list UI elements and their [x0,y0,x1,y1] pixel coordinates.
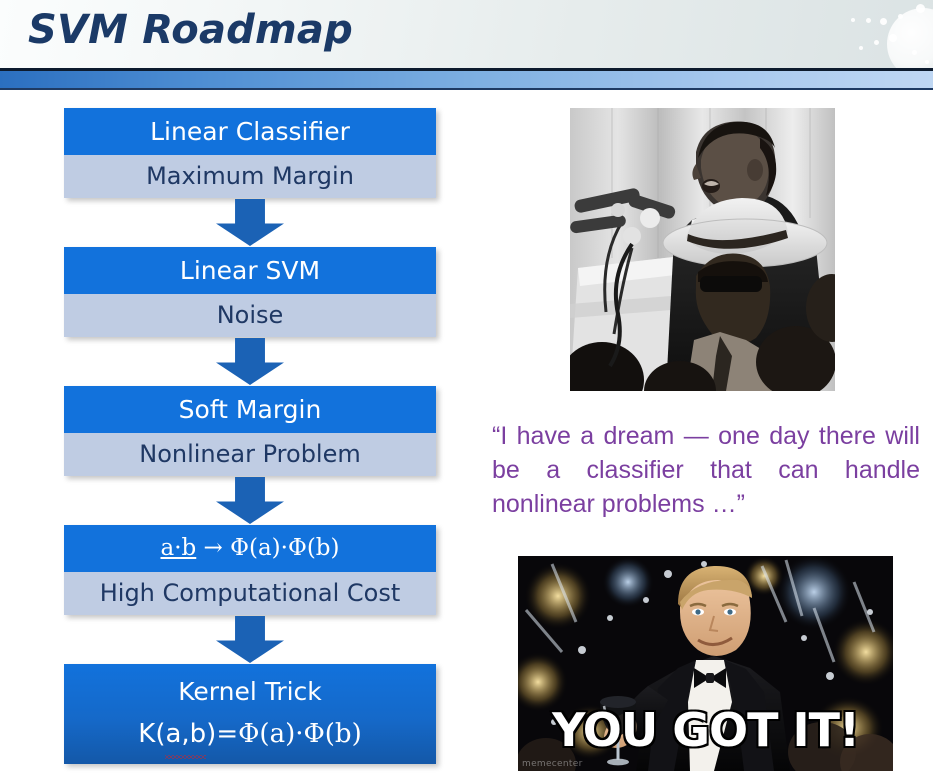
flow-step-subtitle: Noise [64,294,436,337]
dream-quote: “I have a dream — one day there will be … [492,419,920,521]
formula-prefix: K( [138,719,165,749]
flow-step-subtitle: Maximum Margin [64,155,436,198]
down-arrow-icon [216,616,284,663]
flow-step-subtitle: High Computational Cost [64,572,436,615]
flow-step-kernel-trick: Kernel Trick K(a,b)=Φ(a)·Φ(b) [64,664,436,764]
flow-step-dot-product-mapping: a·b → Φ(a)·Φ(b) High Computational Cost [64,525,436,615]
flow-arrow-4 [64,615,436,664]
page-title: SVM Roadmap [28,2,353,58]
mlk-speech-photo [570,108,835,391]
down-arrow-icon [216,338,284,385]
bubbles-decoration-icon [793,0,933,68]
flow-step-formula: K(a,b)=Φ(a)·Φ(b) [64,714,436,754]
flow-step-title: Soft Margin [64,386,436,433]
meme-watermark: memecenter [522,759,583,769]
slide-header: SVM Roadmap [0,0,933,68]
flow-step-linear-classifier: Linear Classifier Maximum Margin [64,108,436,198]
meme-caption: YOU GOT IT! [518,703,893,757]
flow-arrow-1 [64,198,436,247]
formula-suffix: Φ(a)·Φ(b) [238,719,362,749]
flow-step-linear-svm: Linear SVM Noise [64,247,436,337]
flow-step-title: Linear SVM [64,247,436,294]
down-arrow-icon [216,477,284,524]
flow-step-title: Linear Classifier [64,108,436,155]
svm-roadmap-flowchart: Linear Classifier Maximum Margin Linear … [64,108,436,764]
formula-lhs: a·b [161,525,197,572]
flow-arrow-2 [64,337,436,386]
formula-mid: )= [206,719,238,749]
down-arrow-icon [216,199,284,246]
you-got-it-meme: YOU GOT IT! memecenter [518,556,893,771]
flow-step-formula: a·b → Φ(a)·Φ(b) [64,525,436,572]
mlk-speech-photo-graphic [570,108,835,391]
formula-rhs: → Φ(a)·Φ(b) [196,535,339,561]
header-divider-bar [0,68,933,90]
flow-step-soft-margin: Soft Margin Nonlinear Problem [64,386,436,476]
flow-arrow-3 [64,476,436,525]
flow-step-title: Kernel Trick [64,670,436,714]
formula-args: a,b [165,714,206,754]
flow-step-subtitle: Nonlinear Problem [64,433,436,476]
